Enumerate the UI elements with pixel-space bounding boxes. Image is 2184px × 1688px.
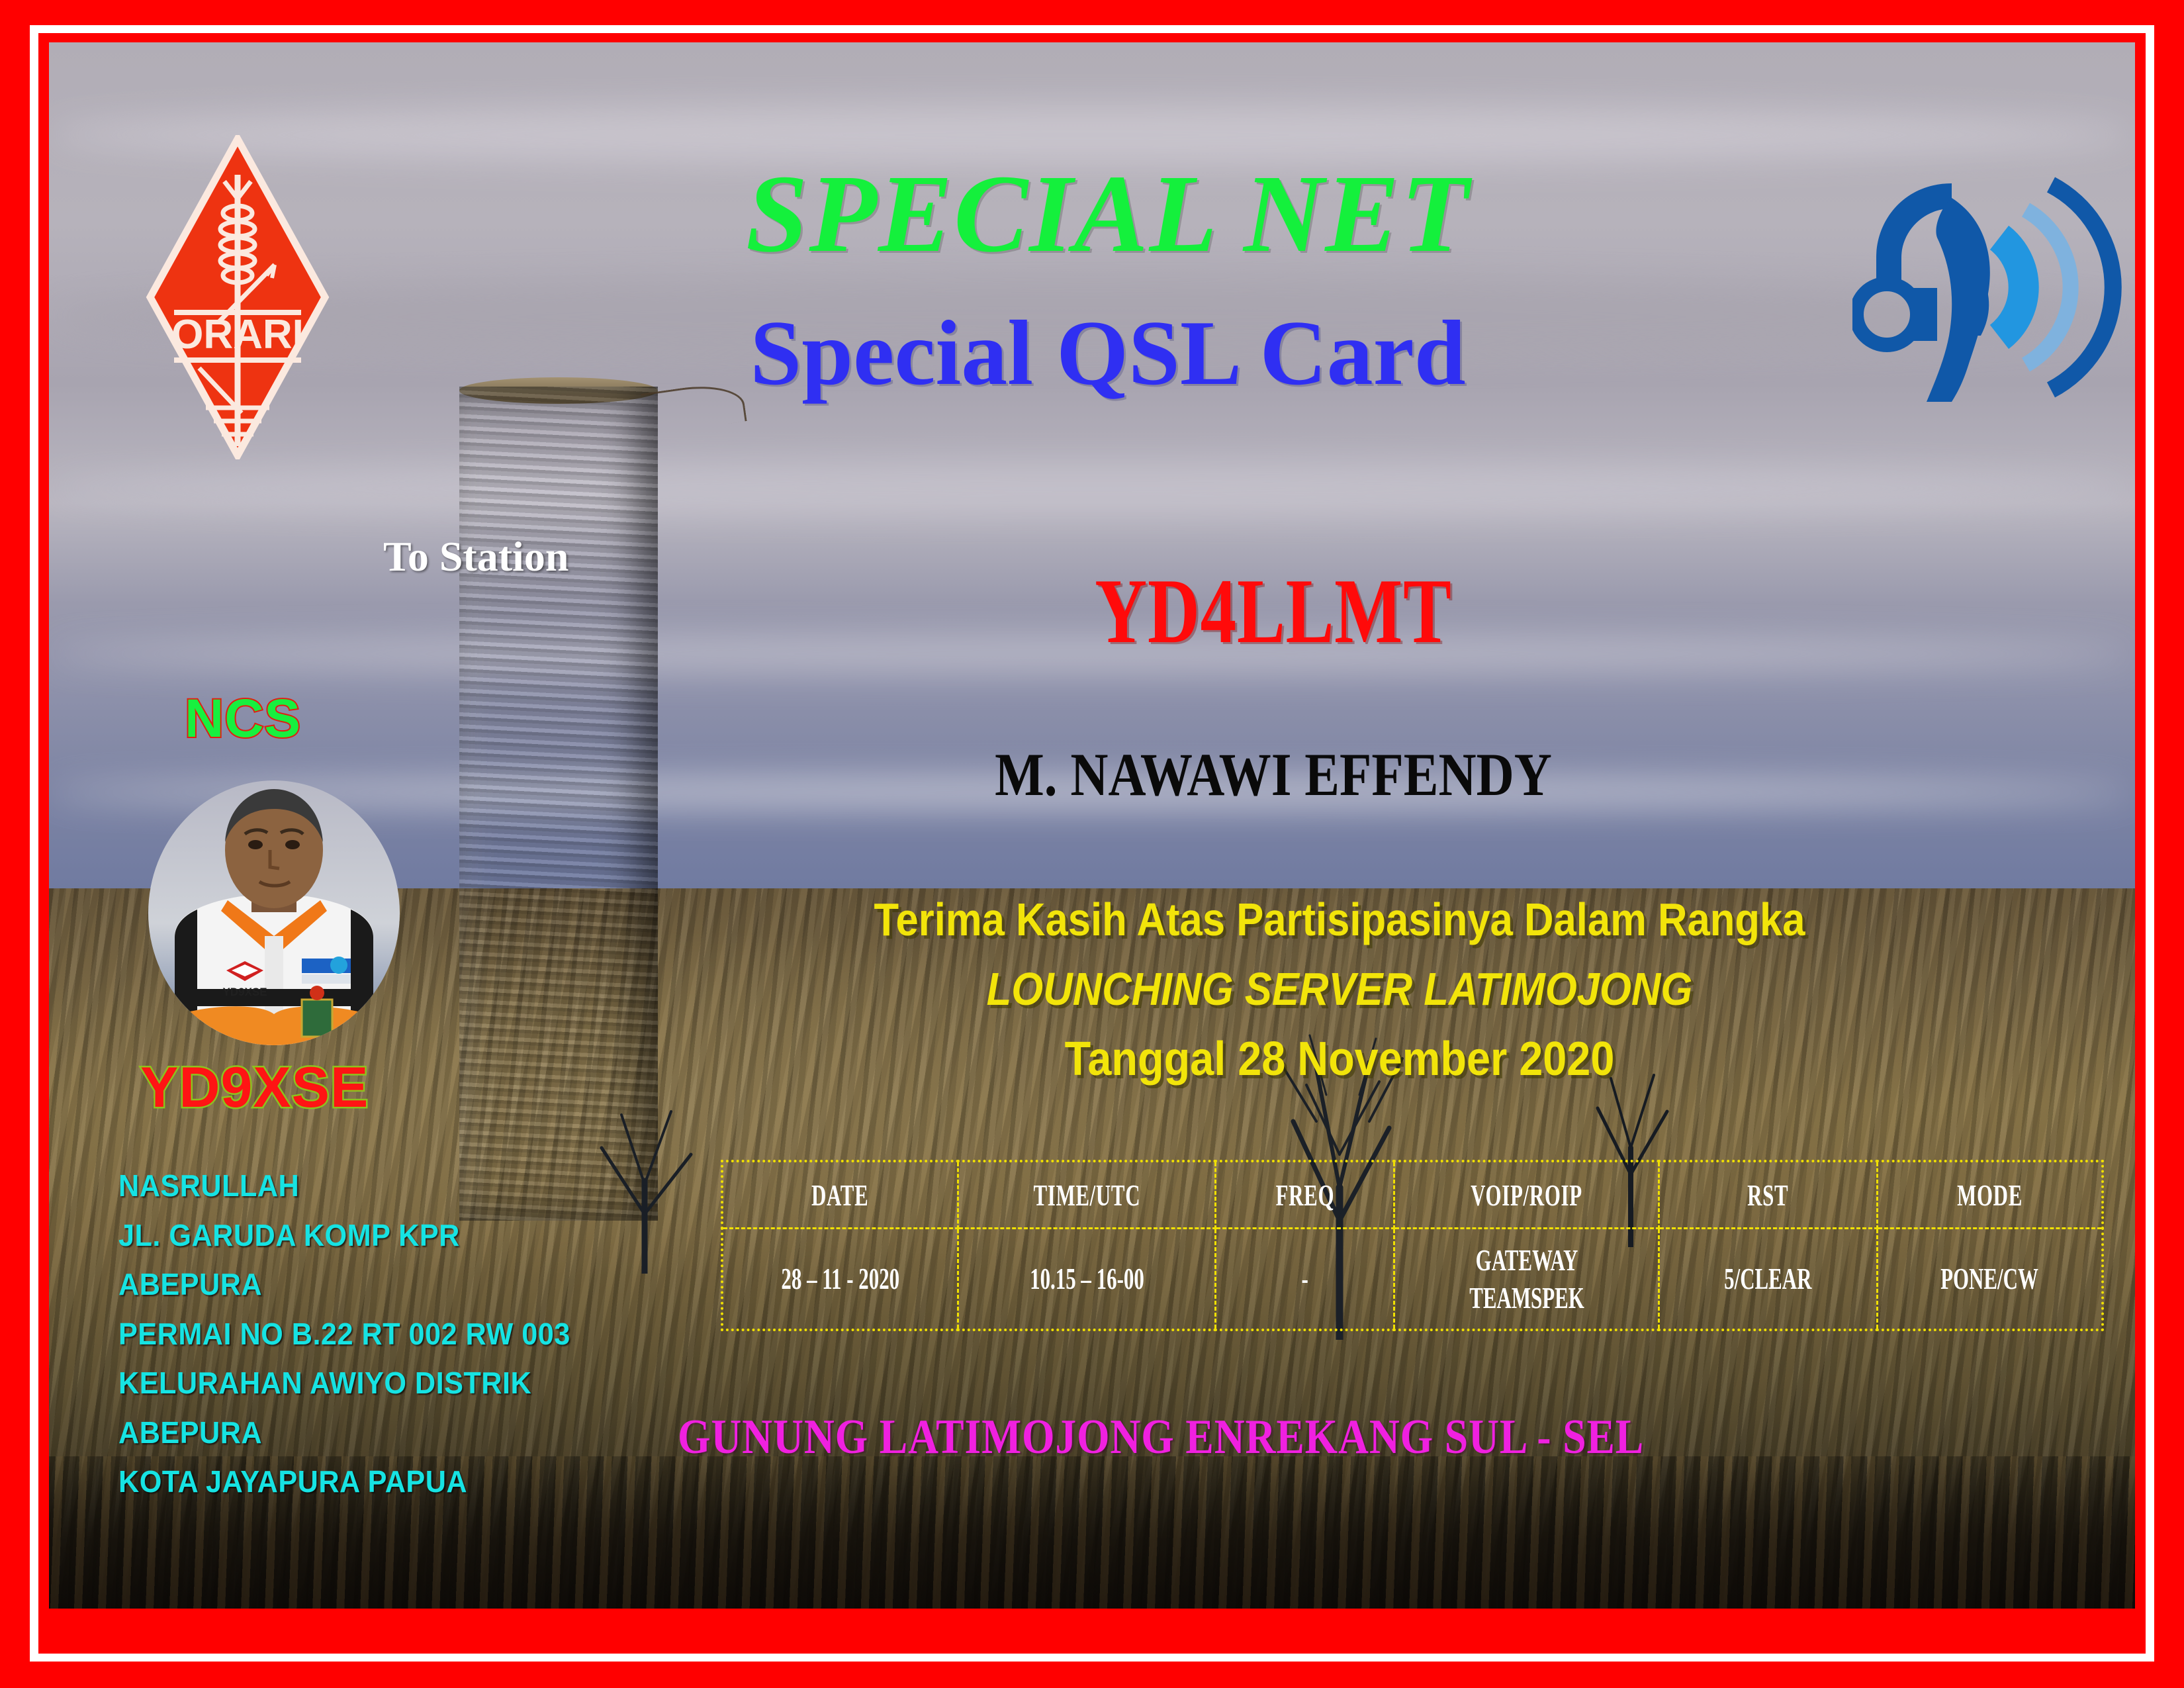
avatar: YD9XSE <box>128 771 420 1049</box>
column-header-freq: FREQ <box>1232 1161 1378 1229</box>
to-station-label: To Station <box>383 532 569 581</box>
cell-mode: PONE/CW <box>1897 1229 2083 1331</box>
ncs-operator-photo: YD9XSE <box>128 771 420 1049</box>
address-line: KOTA JAYAPURA PAPUA <box>118 1457 641 1507</box>
column-header-voip: VOIP/ROIP <box>1418 1161 1635 1229</box>
table-row: 28 – 11 - 2020 10.15 – 16-00 - GATEWAY T… <box>722 1229 2103 1331</box>
operator-name: M. NAWAWI EFFENDY <box>875 744 1672 805</box>
qso-log-table: DATE TIME/UTC FREQ VOIP/ROIP RST MODE 28… <box>721 1160 2104 1331</box>
shirt-callsign-text: YD9XSE <box>222 986 267 998</box>
column-header-date: DATE <box>743 1161 936 1229</box>
headset-radio-wave-logo-icon <box>1852 158 2130 416</box>
orari-logo-text: ORARI <box>171 312 304 357</box>
column-header-mode: MODE <box>1897 1161 2083 1229</box>
ncs-callsign: YD9XSE <box>140 1055 369 1121</box>
cell-date: 28 – 11 - 2020 <box>743 1229 936 1331</box>
cell-rst: 5/CLEAR <box>1678 1229 1858 1331</box>
event-location: GUNUNG LATIMOJONG ENREKANG SUL - SEL <box>678 1409 1759 1466</box>
table-header-row: DATE TIME/UTC FREQ VOIP/ROIP RST MODE <box>722 1161 2103 1229</box>
card-bottom-red-strip <box>49 1620 2135 1654</box>
orari-logo-icon: ORARI <box>145 135 330 459</box>
card-text-layer: ORARI <box>49 42 2135 1609</box>
station-address-block: NASRULLAH JL. GARUDA KOMP KPR ABEPURA PE… <box>118 1161 641 1507</box>
address-line: NASRULLAH <box>118 1161 641 1211</box>
column-header-rst: RST <box>1678 1161 1858 1229</box>
station-callsign: YD4LLMT <box>912 565 1635 658</box>
address-line: PERMAI NO B.22 RT 002 RW 003 <box>118 1309 641 1359</box>
cell-time: 10.15 – 16-00 <box>981 1229 1193 1331</box>
thanks-line: Terima Kasih Atas Partisipasinya Dalam R… <box>844 896 1835 943</box>
event-date: Tanggal 28 November 2020 <box>833 1035 1846 1083</box>
address-line: KELURAHAN AWIYO DISTRIK <box>118 1358 641 1408</box>
cell-freq: - <box>1232 1229 1378 1331</box>
event-name: LOUNCHING SERVER LATIMOJONG <box>844 966 1835 1012</box>
column-header-time: TIME/UTC <box>981 1161 1193 1229</box>
cell-voip: GATEWAY TEAMSPEK <box>1418 1229 1635 1331</box>
qsl-card: ORARI <box>0 0 2184 1688</box>
page-subtitle: Special QSL Card <box>512 307 1704 400</box>
address-line: ABEPURA <box>118 1408 641 1458</box>
card-background-photo: ORARI <box>49 42 2135 1609</box>
page-title: SPECIAL NET <box>512 158 1704 269</box>
ncs-role-label: NCS <box>185 688 301 750</box>
address-line: JL. GARUDA KOMP KPR <box>118 1211 641 1260</box>
address-line: ABEPURA <box>118 1260 641 1309</box>
